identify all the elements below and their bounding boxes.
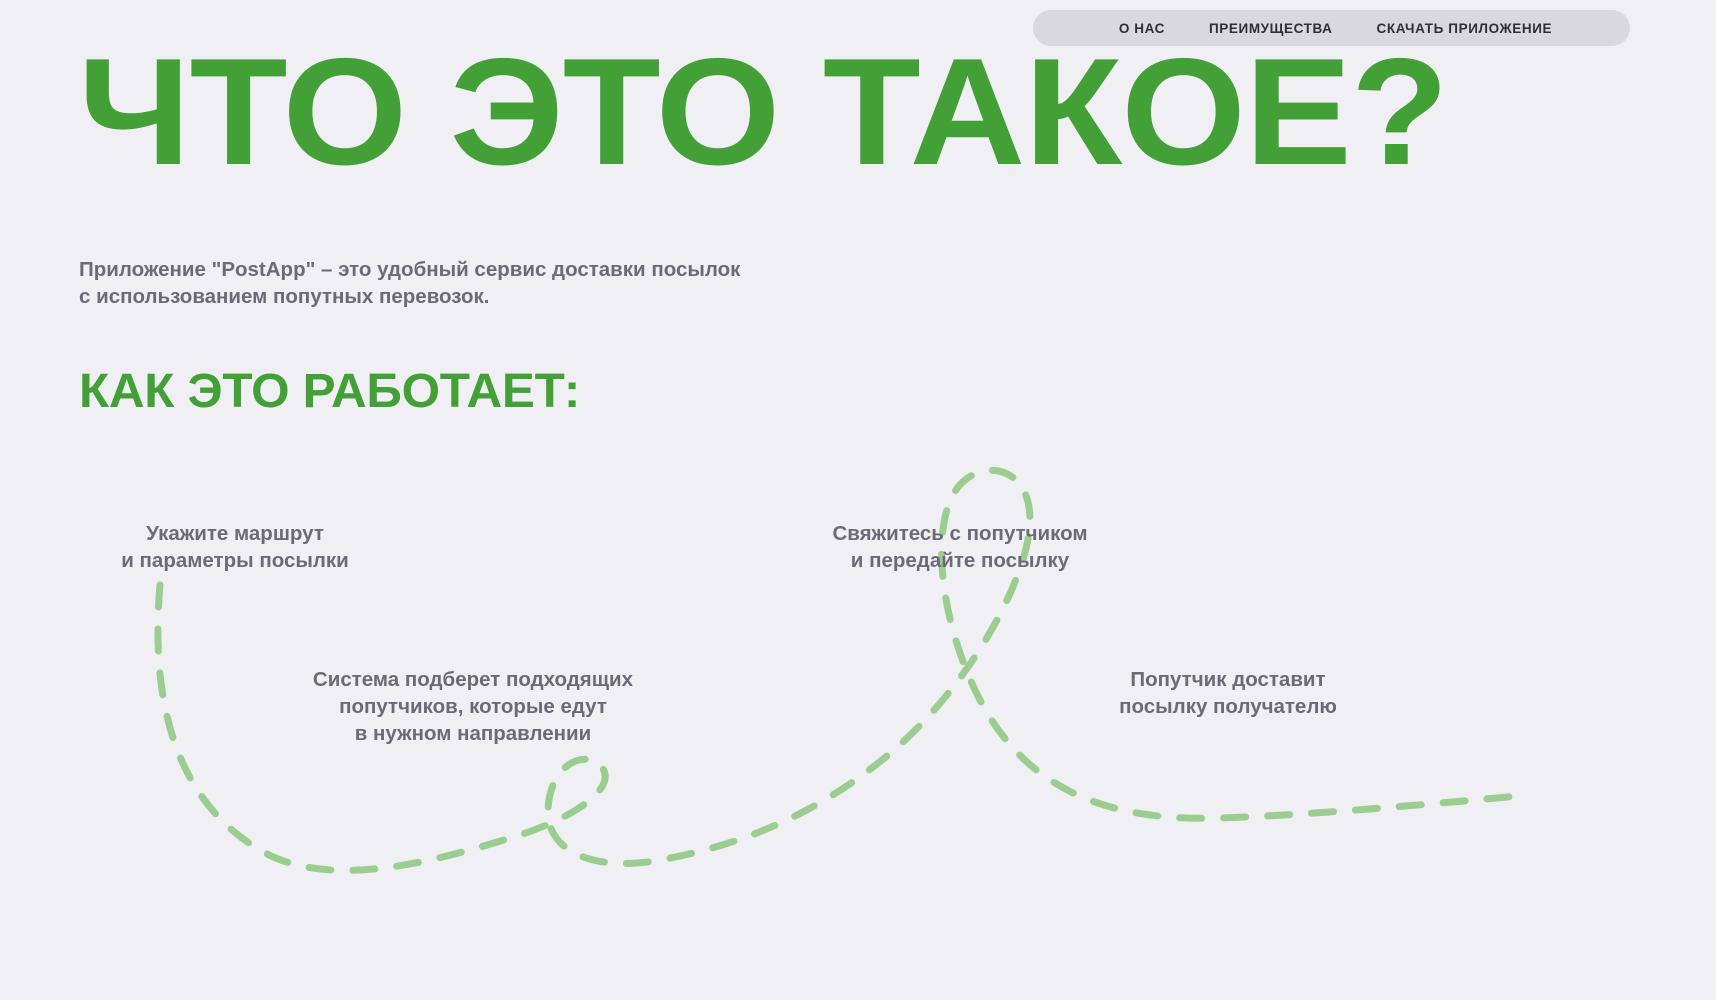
intro-paragraph: Приложение "PostApp" – это удобный серви… — [79, 256, 740, 310]
step-label-3: Свяжитесь с попутчиком и передайте посыл… — [820, 520, 1100, 574]
step-label-2: Система подберет подходящих попутчиков, … — [300, 666, 646, 747]
how-it-works-heading: КАК ЭТО РАБОТАЕТ: — [79, 365, 580, 419]
page-root: О НАС ПРЕИМУЩЕСТВА СКАЧАТЬ ПРИЛОЖЕНИЕ ЧТ… — [0, 0, 1716, 1000]
dashed-route-path — [0, 440, 1716, 940]
page-title: ЧТО ЭТО ТАКОЕ? — [78, 36, 1716, 188]
step-label-1: Укажите маршрут и параметры посылки — [112, 520, 358, 574]
step-label-4: Попутчик доставит посылку получателю — [1108, 666, 1348, 720]
